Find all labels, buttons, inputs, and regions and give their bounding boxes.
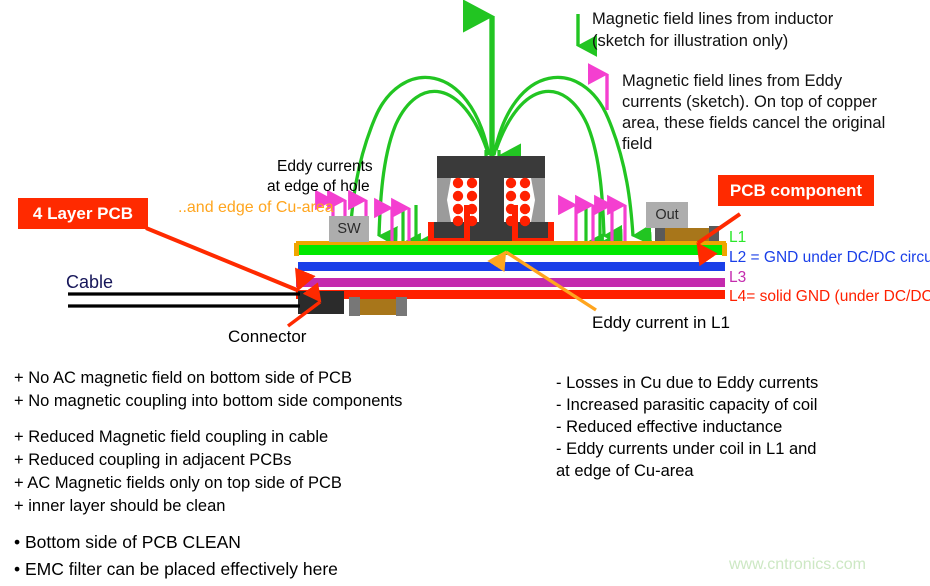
cable-conductors (68, 294, 300, 306)
layer-label-l2: L2 = GND under DC/DC circuit (729, 249, 930, 267)
bottom-side-component (349, 297, 407, 316)
legend-eddy-line3: area, these fields cancel the original (622, 114, 885, 133)
pcb-stackup (294, 241, 727, 299)
watermark: www.cntronics.com (729, 556, 866, 574)
cons-line-4: - Eddy currents under coil in L1 and (556, 438, 816, 460)
four-layer-pcb-leader (146, 228, 297, 290)
pros-line-1: + No AC magnetic field on bottom side of… (14, 367, 352, 389)
layer-label-l4: L4= solid GND (under DC/DC) (729, 288, 930, 306)
connector-block (298, 291, 344, 314)
connector-label: Connector (228, 327, 306, 347)
pros-line-2: + No magnetic coupling into bottom side … (14, 390, 402, 412)
eddy-cu-area-label: ..and edge of Cu-area (178, 199, 334, 218)
four-layer-pcb-badge: 4 Layer PCB (18, 198, 148, 229)
inductor-component (428, 156, 554, 244)
legend-inductor-line1: Magnetic field lines from inductor (592, 10, 833, 29)
conclusion-line-1: • Bottom side of PCB CLEAN (14, 529, 241, 556)
out-pad: Out (646, 202, 688, 228)
pros-line-5: + AC Magnetic fields only on top side of… (14, 472, 342, 494)
eddy-hole-line2: at edge of hole (267, 178, 370, 196)
legend-eddy-line1: Magnetic field lines from Eddy (622, 72, 842, 91)
pros-line-6: + inner layer should be clean (14, 495, 225, 517)
legend-eddy-line2: currents (sketch). On top of copper (622, 93, 877, 112)
legend-inductor-line2: (sketch for illustration only) (592, 32, 788, 51)
cons-line-2: - Increased parasitic capacity of coil (556, 394, 817, 416)
legend-eddy-line4: field (622, 135, 652, 154)
eddy-current-l1-label: Eddy current in L1 (592, 313, 730, 333)
sw-pad: SW (329, 216, 369, 242)
cons-line-5: at edge of Cu-area (556, 460, 694, 482)
cons-line-3: - Reduced effective inductance (556, 416, 782, 438)
layer-label-l3: L3 (729, 269, 746, 287)
pros-line-3: + Reduced Magnetic field coupling in cab… (14, 426, 328, 448)
pros-line-4: + Reduced coupling in adjacent PCBs (14, 449, 291, 471)
pcb-component-badge: PCB component (718, 175, 874, 206)
eddy-hole-line1: Eddy currents (277, 158, 373, 176)
cable-label: Cable (66, 272, 113, 293)
layer-label-l1: L1 (729, 229, 746, 247)
conclusion-line-2: • EMC filter can be placed effectively h… (14, 556, 338, 583)
cons-line-1: - Losses in Cu due to Eddy currents (556, 372, 818, 394)
